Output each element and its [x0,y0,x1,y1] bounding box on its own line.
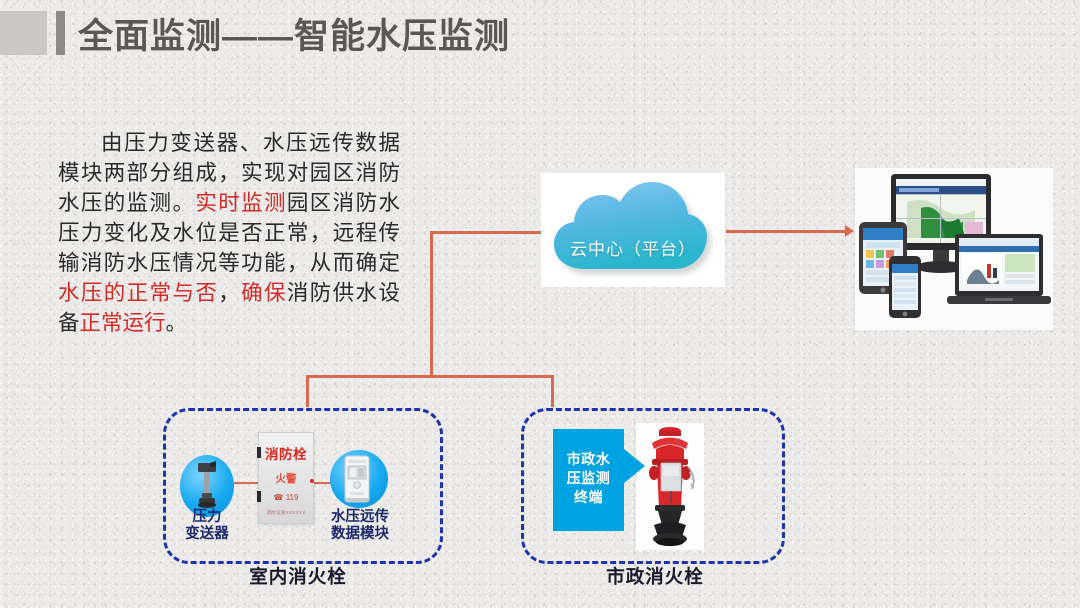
body-highlight-4: 正常运行 [80,311,166,335]
indoor-hydrant-caption: 室内消火栓 [228,563,368,589]
connector-horizontal-branch [306,375,554,378]
data-module-label: 水压远传 数据模块 [316,509,404,543]
cabinet-alarm-text: 火警 [259,471,313,486]
laptop-icon [947,234,1051,304]
title-accent-bar [56,11,65,55]
wire-sensor-to-cabinet [234,482,260,484]
cabinet-phone-text: ☎ 119 [259,493,313,502]
pressure-transmitter-label-line1: 压力 [167,509,247,526]
fire-hydrant-cabinet: 消防栓 火警 ☎ 119 消防设施XXXXXX [258,432,314,524]
city-terminal-callout-text: 市政水 压监测 终端 [553,429,624,507]
connector-vertical-main [430,231,433,377]
cabinet-footnote: 消防设施XXXXXX [259,510,313,516]
title-decor-block [0,11,47,55]
data-module-label-line1: 水压远传 [316,509,404,526]
pressure-transmitter-label: 压力 变送器 [167,509,247,543]
body-highlight-3: 确保 [241,281,287,305]
page-title: 全面监测——智能水压监测 [78,8,510,59]
water-pressure-data-module-icon [342,455,372,503]
device-cluster [855,168,1053,330]
cloud-platform-card: 云中心（平台） [541,173,725,287]
pressure-transmitter-icon [196,460,218,510]
cloud-label: 云中心（平台） [541,235,725,260]
city-hydrant-caption: 市政消火栓 [585,563,725,589]
cabinet-title: 消防栓 [259,443,313,463]
pressure-transmitter-label-line2: 变送器 [167,526,247,543]
connector-cloud-to-devices [726,230,848,233]
body-highlight-2: 水压的正常与否 [58,281,218,305]
data-module-label-line2: 数据模块 [316,526,404,543]
connector-drop-right [551,375,554,407]
connector-drop-left [306,375,309,407]
body-highlight-1: 实时监测 [195,191,287,215]
callout-line-1: 市政水 [553,450,624,469]
cabinet-hinge-bottom [257,491,261,502]
smartphone-icon [889,256,921,318]
fire-hydrant-icon [636,423,704,550]
callout-line-3: 终端 [553,488,624,507]
devices-illustration [855,168,1053,330]
cloud-icon [541,173,725,287]
body-seg-3: ， [218,281,241,305]
cabinet-connection-dot [310,479,314,483]
body-paragraph: 由压力变送器、水压远传数据模块两部分组成，实现对园区消防水压的监测。实时监测园区… [58,128,400,338]
callout-line-2: 压监测 [553,469,624,488]
city-terminal-callout: 市政水 压监测 终端 [553,429,624,531]
body-seg-5: 。 [166,311,188,335]
connector-to-cloud [430,231,542,234]
cabinet-hinge-top [257,447,261,458]
